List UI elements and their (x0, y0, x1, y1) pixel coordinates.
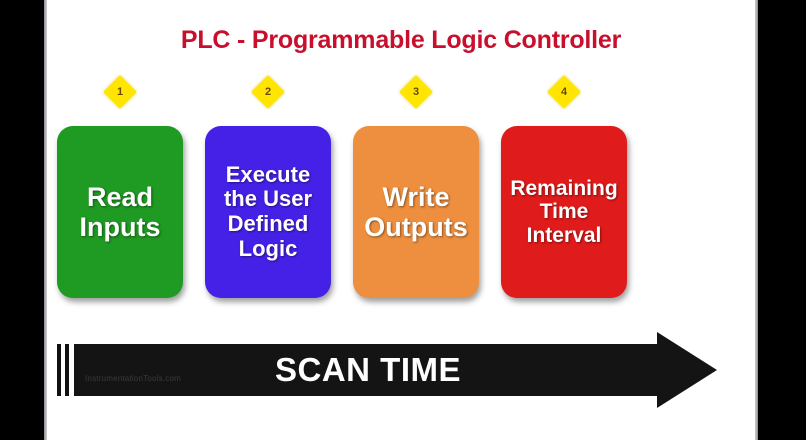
step-marker-2-number: 2 (256, 80, 280, 104)
letterbox-pillar-right (758, 0, 806, 440)
page-title: PLC - Programmable Logic Controller (47, 26, 755, 55)
step-box-remaining-time: Remaining Time Interval (501, 126, 627, 298)
step-marker-1-number: 1 (108, 80, 132, 104)
scan-time-arrow: SCAN TIME InstrumentationTools.com (57, 334, 717, 406)
step-marker-2: 2 (251, 75, 285, 109)
diagram-canvas: PLC - Programmable Logic Controller 1 2 … (47, 0, 755, 440)
step-marker-1: 1 (103, 75, 137, 109)
letterbox-edge-left (44, 0, 47, 440)
arrow-head-icon (657, 332, 717, 408)
step-box-remaining-time-label: Remaining Time Interval (510, 177, 617, 248)
watermark-text: InstrumentationTools.com (85, 374, 181, 383)
step-box-write-outputs: Write Outputs (353, 126, 479, 298)
step-marker-4: 4 (547, 75, 581, 109)
step-box-read-inputs: Read Inputs (57, 126, 183, 298)
step-marker-4-number: 4 (552, 80, 576, 104)
step-marker-3-number: 3 (404, 80, 428, 104)
scan-time-label: SCAN TIME (74, 344, 662, 396)
letterbox-edge-right (755, 0, 758, 440)
diagram-stage: PLC - Programmable Logic Controller 1 2 … (0, 0, 806, 440)
step-box-execute-logic: Execute the User Defined Logic (205, 126, 331, 298)
arrow-tail-bar-1 (57, 344, 61, 396)
arrow-tail-bar-2 (65, 344, 69, 396)
step-box-read-inputs-label: Read Inputs (80, 182, 161, 242)
step-box-execute-logic-label: Execute the User Defined Logic (224, 163, 312, 262)
letterbox-pillar-left (0, 0, 44, 440)
step-box-write-outputs-label: Write Outputs (364, 182, 467, 242)
step-marker-3: 3 (399, 75, 433, 109)
